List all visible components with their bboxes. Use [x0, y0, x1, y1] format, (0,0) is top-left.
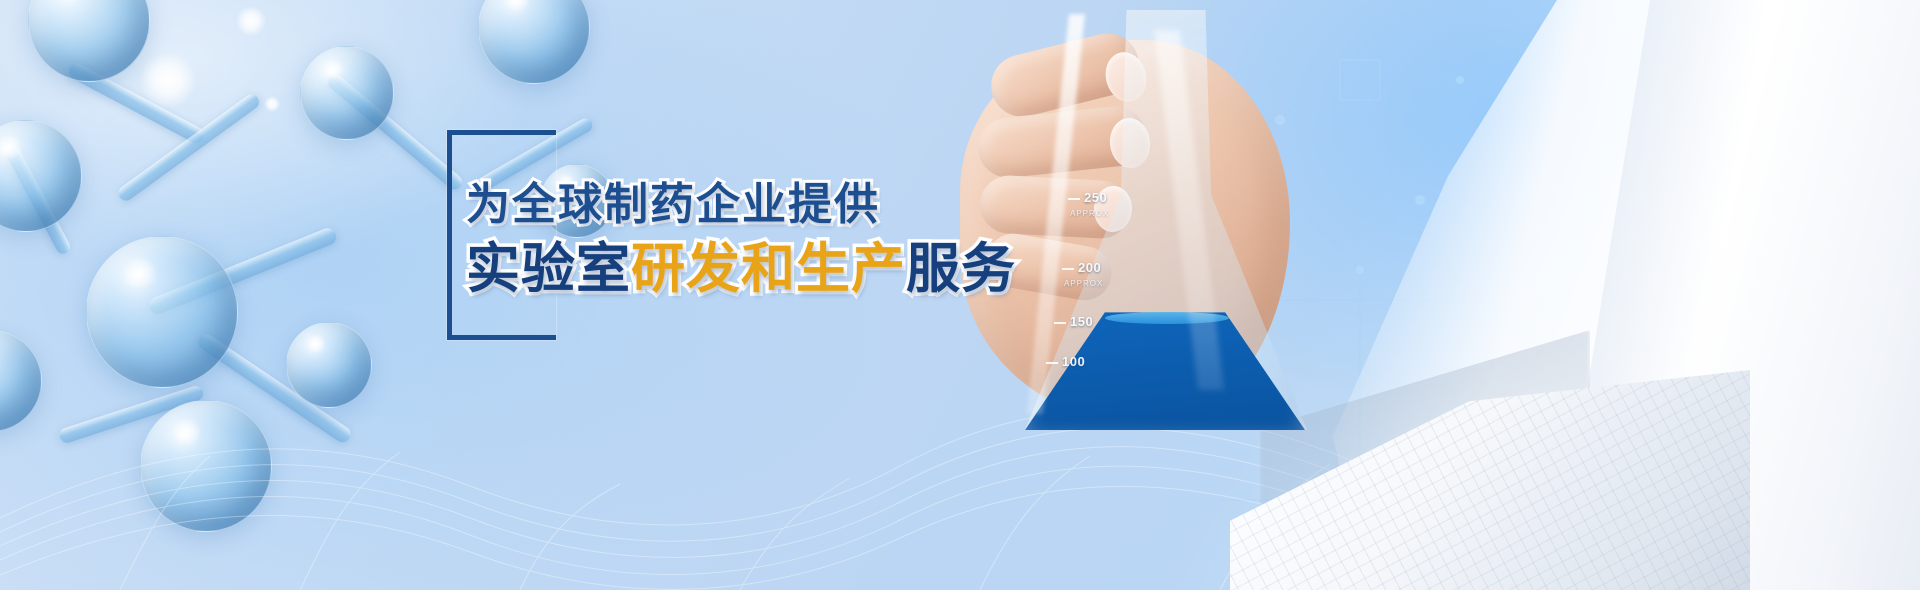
light-bokeh — [264, 96, 280, 112]
light-bokeh — [236, 6, 266, 36]
molecule-atom — [140, 400, 272, 532]
molecule-bond — [66, 61, 206, 146]
molecule-atom — [0, 120, 82, 232]
lab-coat-shadow — [1260, 330, 1590, 590]
wave-mesh-graphic — [0, 360, 1920, 590]
scientist-hand-flask-photo: 250 APPROX 200 APPROX 150 100 — [930, 0, 1920, 590]
molecule-bond — [325, 72, 465, 193]
graduation-mark: 150 — [1054, 314, 1093, 329]
headline-segment-lab: 实验室 — [466, 237, 631, 300]
lab-coat-fold — [1550, 0, 1800, 590]
finger — [975, 103, 1148, 180]
flask-liquid-surface — [1105, 312, 1229, 324]
graduation-approx-label: APPROX — [1064, 279, 1103, 288]
fingernail — [1093, 185, 1133, 233]
molecule-bond — [116, 92, 262, 204]
lab-coat-sleeve — [1230, 370, 1750, 590]
molecule-bond — [58, 384, 205, 445]
graduation-approx-label: APPROX — [1070, 209, 1109, 218]
graduation-mark: 100 — [1046, 354, 1085, 369]
flask-graduation-scale: 250 APPROX 200 APPROX 150 100 — [1068, 190, 1188, 380]
flask-highlight — [1154, 30, 1224, 390]
hero-banner: 250 APPROX 200 APPROX 150 100 为全球制药企业提供 … — [0, 0, 1920, 590]
molecule-bond — [4, 144, 73, 257]
molecule-atom — [300, 46, 394, 140]
lab-coat-sleeve-texture — [1230, 370, 1750, 590]
flask-highlight — [1027, 14, 1085, 414]
molecule-atom — [86, 236, 238, 388]
fingernail — [1107, 116, 1152, 170]
headline-segment-service: 服务 — [906, 237, 1016, 300]
graduation-mark: 200 — [1062, 260, 1101, 275]
headline-line-2: 实验室研发和生产服务 — [466, 236, 1016, 302]
molecule-atom — [0, 330, 42, 432]
erlenmeyer-flask — [1025, 10, 1307, 430]
circuit-network-graphic — [1160, 0, 1920, 590]
molecule-atom — [28, 0, 150, 82]
headline-line-1: 为全球制药企业提供 — [466, 176, 1016, 234]
flask-liquid — [1025, 10, 1305, 430]
graduation-mark: 250 — [1068, 190, 1107, 205]
finger — [985, 27, 1146, 123]
fingernail — [1101, 48, 1152, 106]
headline-segment-rd-production: 研发和生产 — [631, 237, 906, 300]
light-bokeh — [140, 52, 196, 108]
headline-block: 为全球制药企业提供 实验室研发和生产服务 — [466, 176, 1016, 302]
lab-coat — [1320, 0, 1920, 590]
molecule-bond — [196, 331, 354, 445]
molecule-bond — [147, 226, 339, 317]
molecule-atom — [286, 322, 372, 408]
molecule-atom — [478, 0, 590, 84]
